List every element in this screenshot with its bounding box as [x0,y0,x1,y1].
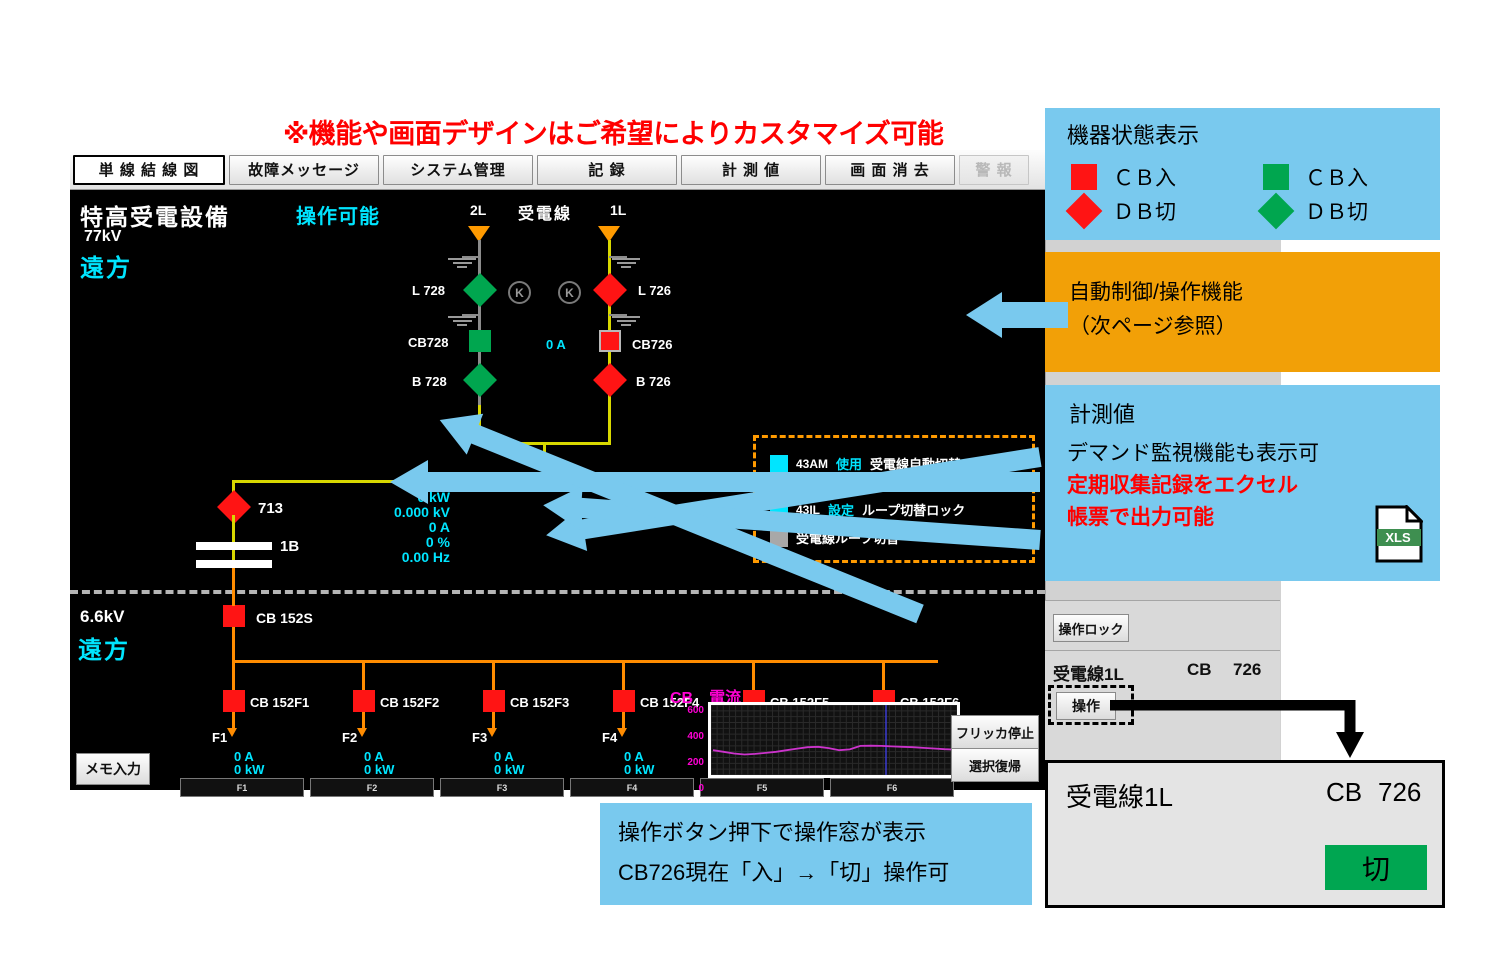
legend-cb-on-red-icon [1071,164,1097,190]
feeder-name-f2: F2 [342,730,357,745]
lv-voltage-label: 6.6kV [80,607,124,627]
measure-pct: 0 % [335,535,450,550]
legend-swatch-43il [770,501,788,519]
feeder-arrow-icon-f4 [617,728,627,737]
disconnector-b728[interactable] [463,363,497,397]
hmi-toolbar: 単 線 結 線 図 故障メッセージ システム管理 記 録 計 測 値 画 面 消… [70,150,1045,190]
tab-record[interactable]: 記 録 [537,155,677,185]
panel-auto-control-line1: 自動制御/操作機能 [1069,276,1243,306]
tab-fault-message[interactable]: 故障メッセージ [229,155,379,185]
panel-measurements-title: 計測値 [1069,397,1135,429]
feeder-name-f1: F1 [212,730,227,745]
xls-file-icon: XLS [1375,505,1423,563]
feeder-kw-f3: 0 kW [494,763,524,777]
disconnector-b728-label: B 728 [412,374,447,389]
legend-swatch-loop-switch [770,529,788,547]
operation-lock-button[interactable]: 操作ロック [1053,614,1129,642]
feeder-arrow-icon-f1 [227,728,237,737]
lv-control-mode: 遠方 [78,630,130,665]
feeder-name-f4: F4 [602,730,617,745]
wire-bus-to-lv [232,568,235,590]
legend-cb-on-green-icon [1263,164,1289,190]
legend-code-43am: 43AM [796,457,828,471]
operation-dialog: 受電線1L CB 726 切 [1045,760,1445,908]
flicker-stop-button[interactable]: フリッカ停止 [951,715,1039,749]
operation-status: 操作可能 [296,200,380,229]
panel-auto-control: 自動制御/操作機能 （次ページ参照） [1045,252,1440,372]
incoming-line-title: 受電線 [518,200,572,224]
caption-line1: 操作ボタン押下で操作窓が表示 [618,815,926,847]
breaker-cb726-label: CB726 [632,337,672,352]
arrow-to-auto-control [960,290,1070,340]
busbar-1b-label: 1B [280,538,299,555]
measure-hz: 0.00 Hz [335,550,450,565]
caption-line2: CB726現在「入」→「切」操作可 [618,855,949,887]
wire-713-to-bus [232,515,235,543]
hv-voltage-label: 77kV [84,228,121,246]
tab-clear-screen[interactable]: 画 面 消 去 [825,155,955,185]
legend-state-43il: 設定 [828,500,854,519]
earth-link-2l-lower [462,314,480,316]
breaker-cb152s[interactable] [223,605,245,627]
feeder-kw-f4: 0 kW [624,763,654,777]
panel-device-status: 機器状態表示 ＣＢ入 ＣＢ入 ＤＢ切 ＤＢ切 [1045,108,1440,240]
busbar-1b-lower [196,560,272,568]
legend-db-off-red-label: ＤＢ切 [1113,196,1176,226]
voltage-level-divider [70,590,1045,594]
earth-symbol-2l-lower [448,314,476,328]
feeder-breaker-label-f1: CB 152F1 [250,695,309,710]
earth-link-2l-upper [462,256,480,258]
lv-distribution-bus [232,660,938,663]
legend-code-43il: 43IL [796,503,820,517]
tab-measurements[interactable]: 計 測 値 [681,155,821,185]
hv-control-mode: 遠方 [80,248,132,283]
legend-text-43il: ループ切替ロック [862,500,965,519]
hmi-screen: 特高受電設備 77kV 遠方 操作可能 6.6kV 遠方 2L 受電線 1L L… [70,190,1045,790]
select-return-button[interactable]: 選択復帰 [951,748,1039,782]
feeder-breaker-label-f3: CB 152F3 [510,695,569,710]
feeder-button-f3[interactable]: F3 [440,778,564,797]
disconnector-l728[interactable] [463,273,497,307]
trend-chart-yaxis: 600 400 200 0 [670,705,704,794]
legend-state-43am: 使用 [836,454,862,473]
dialog-cb-number: 726 [1378,777,1421,808]
operation-panel-divider-mid [1045,650,1280,651]
feeder-breaker-f1[interactable] [223,690,245,712]
feeder-breaker-label-f2: CB 152F2 [380,695,439,710]
legend-row-loop-switch[interactable]: 受電線ループ切替 [770,528,899,547]
earth-symbol-2l-upper [448,256,476,270]
feeder-breaker-f2[interactable] [353,690,375,712]
xls-icon-label: XLS [1375,529,1421,546]
feeder-kw-f2: 0 kW [364,763,394,777]
breaker-cb728[interactable] [469,330,491,352]
disconnector-b726-label: B 726 [636,374,671,389]
legend-text-loop-switch: 受電線ループ切替 [796,528,899,547]
feeder-drop-wire [362,660,365,692]
trend-chart-plot [708,702,960,778]
earth-symbol-1l-upper [612,256,640,270]
legend-cb-on-green-label: ＣＢ入 [1305,162,1368,192]
station-title: 特高受電設備 [80,198,230,232]
operation-panel-divider-top [1045,600,1280,601]
legend-db-off-red-icon [1066,193,1103,230]
wire-lv-to-bus [232,627,235,662]
ytick-200: 200 [670,757,704,768]
tab-alarm[interactable]: 警 報 [959,155,1029,185]
trend-chart: CB 電流 600 400 200 0 [670,685,970,795]
legend-row-43il[interactable]: 43IL 設定 ループ切替ロック [770,500,965,519]
tab-single-line-diagram[interactable]: 単 線 結 線 図 [73,155,225,185]
auto-switch-legend-box: 43AM 使用 受電線自動切替 2L 43IL 設定 ループ切替ロック 受電線ル… [753,435,1035,563]
busbar-link [232,550,235,560]
ytick-0: 0 [670,783,704,794]
tie-wire-left-down [478,405,481,445]
memo-input-button[interactable]: メモ入力 [76,753,150,785]
disconnector-l728-label: L 728 [412,283,445,298]
panel-measurements-line3: 帳票で出力可能 [1067,501,1214,531]
ytick-400: 400 [670,731,704,742]
feeder-kw-f1: 0 kW [234,763,264,777]
line-1l-label: 1L [610,202,626,218]
operation-row-label: 受電線1L [1053,660,1124,685]
caption-operation-window: 操作ボタン押下で操作窓が表示 CB726現在「入」→「切」操作可 [600,803,1032,905]
measure-a: 0 A [335,520,450,535]
feeder-button-f2[interactable]: F2 [310,778,434,797]
panel-measurements: 計測値 デマンド監視機能も表示可 定期収集記録をエクセル 帳票で出力可能 XLS [1045,385,1440,581]
line-2l-label: 2L [470,202,486,218]
panel-device-status-title: 機器状態表示 [1067,118,1199,150]
interlock-k-icon-right: K [558,281,581,304]
dialog-open-button[interactable]: 切 [1325,845,1427,890]
disconnector-l726-label: L 726 [638,283,671,298]
feeder-name-f3: F3 [472,730,487,745]
earth-symbol-1l-lower [612,314,640,328]
breaker-cb152s-label: CB 152S [256,610,313,626]
busbar-1b-upper [196,542,272,550]
feeder-drop-wire [492,660,495,692]
tie-wire-to-main [232,480,546,483]
feeder-breaker-f3[interactable] [483,690,505,712]
legend-text-43am: 受電線自動切替 2L [870,454,980,473]
feeder-arrow-icon-f2 [357,728,367,737]
legend-db-off-green-icon [1258,193,1295,230]
legend-db-off-green-label: ＤＢ切 [1305,196,1368,226]
breaker-cb728-label: CB728 [408,335,448,350]
earth-link-1l-lower [609,314,627,316]
legend-row-43am[interactable]: 43AM 使用 受電線自動切替 2L [770,454,980,473]
incoming-current-value: 0 A [546,338,566,352]
panel-measurements-line2: 定期収集記録をエクセル [1067,469,1298,499]
feeder-arrow-icon-f3 [487,728,497,737]
breaker-cb726[interactable] [599,330,621,352]
feeder-breaker-f4[interactable] [613,690,635,712]
hmi-window: 単 線 結 線 図 故障メッセージ システム管理 記 録 計 測 値 画 面 消… [70,150,1045,790]
dialog-cb-label: CB [1326,777,1362,808]
disconnector-l726[interactable] [593,273,627,307]
tie-wire-center-down [543,442,546,482]
panel-measurements-line1: デマンド監視機能も表示可 [1067,437,1319,467]
tie-wire-right-down [608,405,611,445]
operation-button[interactable]: 操作 [1056,692,1116,720]
dialog-title: 受電線1L [1066,777,1173,814]
feeder-drop-wire [232,660,235,692]
earth-link-1l-upper [609,256,627,258]
panel-auto-control-line2: （次ページ参照） [1069,310,1237,340]
operation-row-number: 726 [1233,660,1261,680]
operation-row-cb: CB [1187,660,1212,680]
page-headline: ※機能や画面デザインはご希望によりカスタマイズ可能 [283,112,1043,146]
legend-swatch-43am [770,455,788,473]
legend-cb-on-red-label: ＣＢ入 [1113,162,1176,192]
main-measurement-block: 0 kW 0.000 kV 0 A 0 % 0.00 Hz [335,490,450,565]
interlock-k-icon-left: K [508,281,531,304]
feeder-drop-wire [622,660,625,692]
tab-system-management[interactable]: システム管理 [383,155,533,185]
measure-kv: 0.000 kV [335,505,450,520]
wire-lv-top [232,590,235,606]
disconnector-b726[interactable] [593,363,627,397]
measure-kw: 0 kW [335,490,450,505]
ytick-600: 600 [670,705,704,716]
disconnector-713-label: 713 [258,500,283,517]
feeder-button-f1[interactable]: F1 [180,778,304,797]
